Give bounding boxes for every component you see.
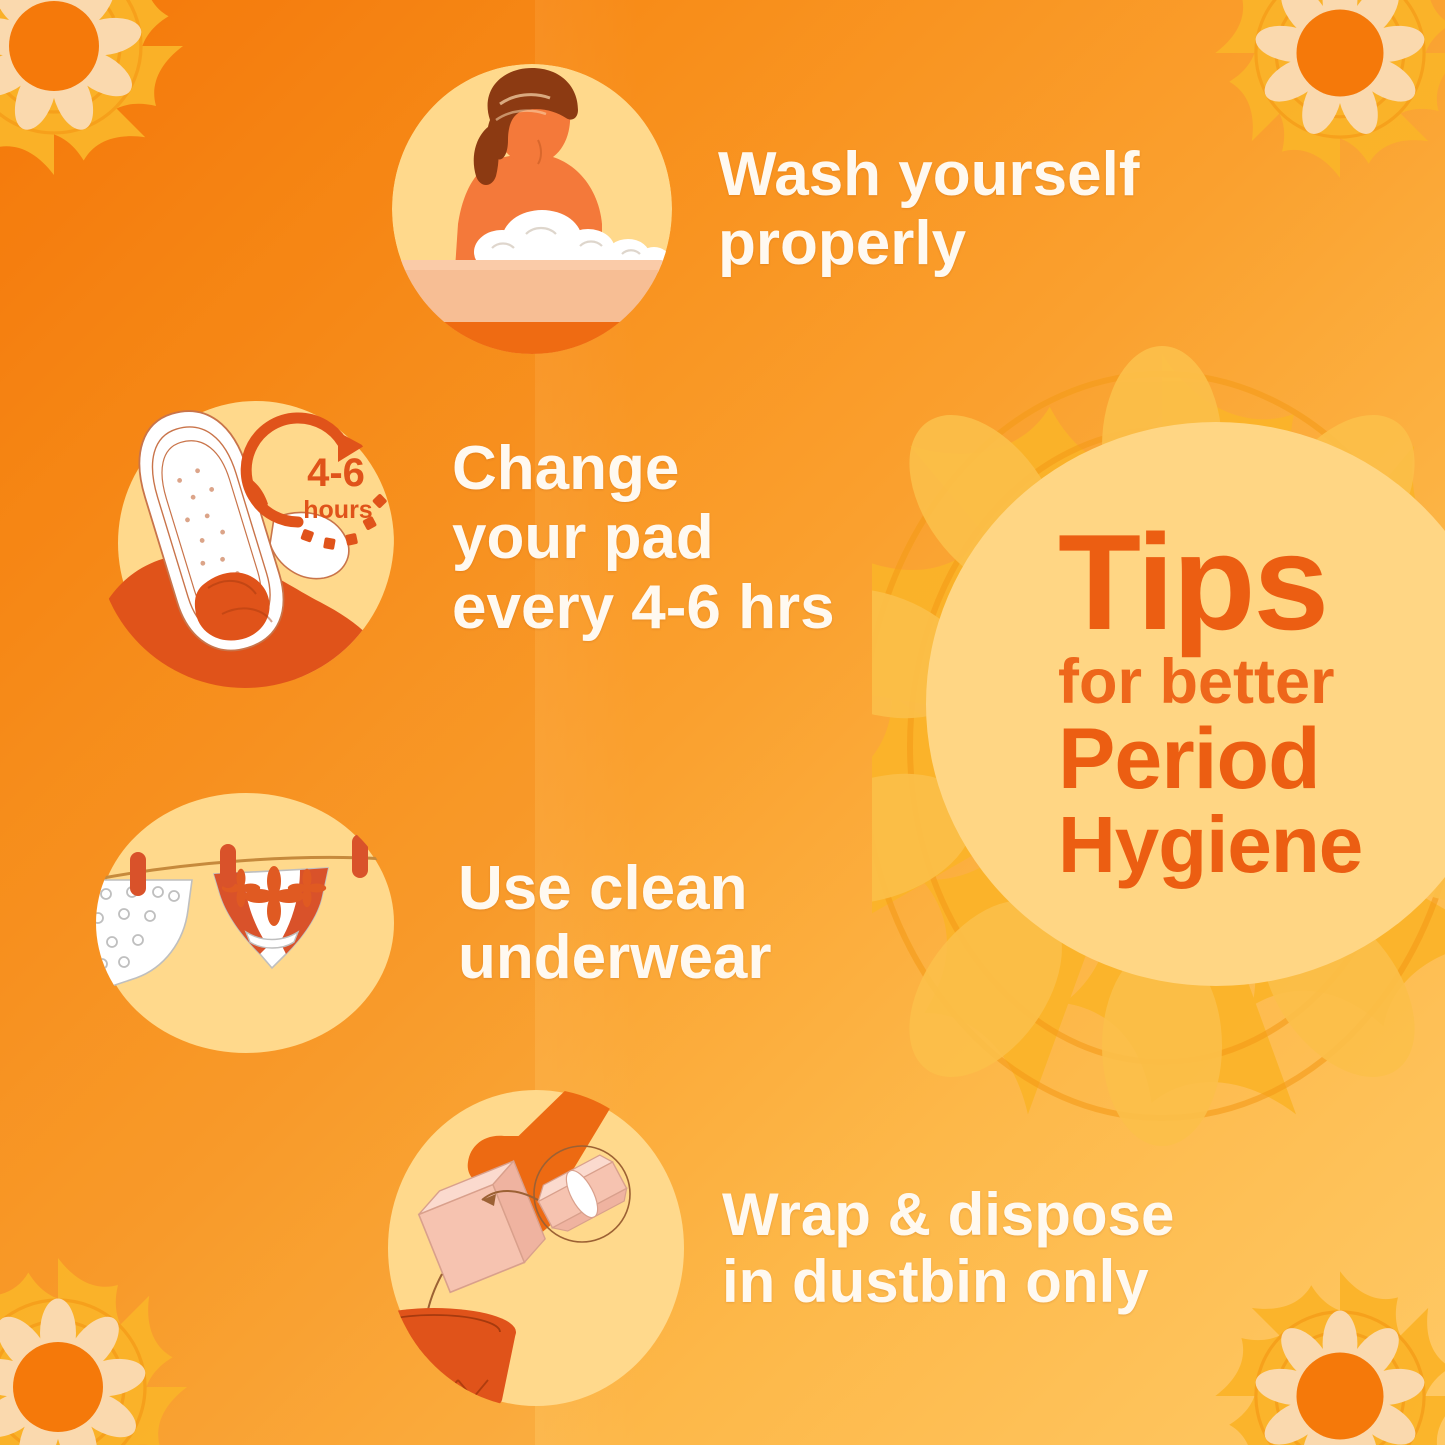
subtitle-period: Period: [1058, 716, 1445, 804]
clothes-peg: [130, 852, 146, 896]
tips-headline-circle: Tips for better Period Hygiene: [926, 422, 1445, 986]
badge-hours-range: 4-6: [307, 451, 365, 495]
mandala-bottom-left: [0, 1237, 208, 1445]
tip-item-clean-underwear: Use clean underwear: [96, 792, 772, 1054]
lotus-mandala-icon: [0, 0, 200, 192]
badge-hours-word: hours: [303, 496, 372, 524]
tip-label-clean-underwear: Use clean underwear: [458, 854, 772, 993]
subtitle-for-better: for better: [1058, 649, 1445, 716]
wrap-and-dispose-in-dustbin-icon: [386, 1088, 686, 1408]
period-hygiene-infographic: Tips for better Period Hygiene: [0, 0, 1445, 1445]
tip-item-change-pad: 4-6 hours Change your pad every 4-6 hrs: [96, 388, 835, 688]
subtitle-hygiene: Hygiene: [1058, 803, 1445, 888]
mandala-top-left: [0, 0, 204, 196]
lotus-mandala-icon: [0, 1241, 204, 1445]
sanitary-pad-in-hand-icon: 4-6 hours: [96, 388, 394, 688]
tip-label-dispose: Wrap & dispose in dustbin only: [722, 1181, 1174, 1315]
clothes-peg: [352, 834, 368, 878]
page-title: Tips: [1058, 520, 1445, 645]
underwear-on-clothesline-icon: [96, 792, 396, 1054]
tip-label-wash: Wash yourself properly: [718, 140, 1139, 279]
mandala-top-right: [1195, 0, 1445, 198]
lotus-mandala-icon: [1199, 0, 1445, 194]
mandala-bottom-right: [1195, 1251, 1445, 1445]
lotus-mandala-icon: [1199, 1255, 1445, 1445]
tip-item-wash: Wash yourself properly: [392, 64, 1139, 354]
dustbin: [386, 1308, 516, 1408]
tip-item-dispose: Wrap & dispose in dustbin only: [386, 1088, 1174, 1408]
woman-in-bathtub-icon: [392, 64, 672, 354]
tip-label-change-pad: Change your pad every 4-6 hrs: [452, 434, 835, 642]
clothes-peg: [220, 844, 236, 888]
